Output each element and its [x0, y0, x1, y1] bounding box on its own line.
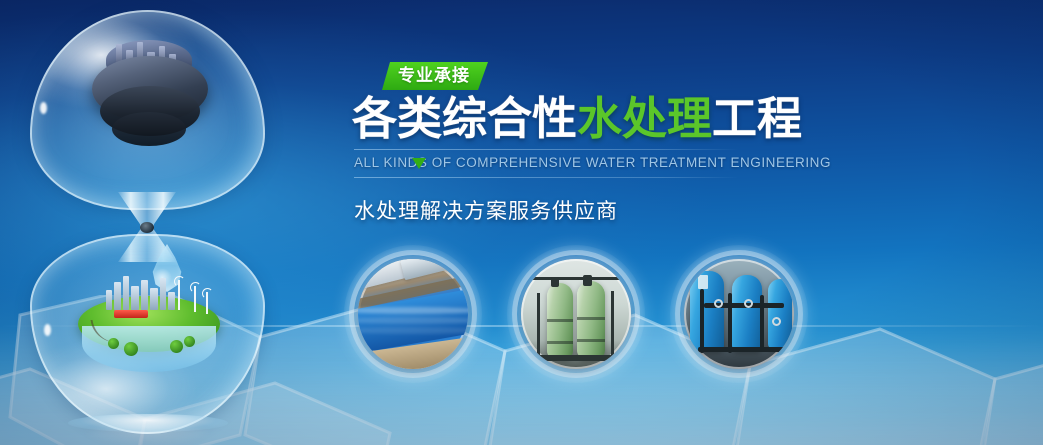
tree-icon	[184, 336, 195, 347]
tree-icon	[108, 338, 119, 349]
badge-pointer	[412, 158, 426, 169]
city-platform-lower	[112, 112, 186, 146]
industrial-city-graphic	[84, 34, 214, 164]
island-skyline	[104, 274, 176, 308]
headline-part-3: 工程	[712, 92, 802, 145]
wind-turbine-icon	[194, 286, 196, 312]
photo-blue-industrial-filters	[684, 259, 794, 369]
wind-turbine-icon	[206, 292, 208, 314]
divider-bottom	[354, 177, 739, 178]
feature-photo-circles	[344, 245, 814, 385]
hourglass-neck-joint	[140, 222, 154, 233]
tree-icon	[170, 340, 183, 353]
tree-icon	[124, 342, 138, 356]
hero-text-block: 专业承接 各类综合性水处理工程 ALL KINDS OF COMPREHENSI…	[352, 62, 772, 225]
page-title: 各类综合性水处理工程	[352, 96, 772, 142]
headline-part-2: 水处理	[577, 92, 712, 145]
red-train-icon	[114, 310, 148, 318]
hourglass-reflection	[80, 424, 216, 445]
headline-part-1: 各类综合性	[352, 92, 577, 145]
photo-circle-water-treatment-pool[interactable]	[344, 245, 482, 383]
badge-professional-undertaking: 专业承接	[382, 62, 488, 90]
photo-circle-blue-filters[interactable]	[670, 245, 808, 383]
photo-circle-filtration-tanks[interactable]	[507, 245, 645, 383]
photo-green-filtration-tanks	[521, 259, 631, 369]
wind-turbine-icon	[178, 280, 180, 310]
divider-top	[354, 149, 739, 150]
eco-island-graphic	[78, 264, 220, 374]
water-treatment-hero-banner: 专业承接 各类综合性水处理工程 ALL KINDS OF COMPREHENSI…	[0, 0, 1043, 445]
photo-water-treatment-pool	[358, 259, 468, 369]
hourglass-illustration	[22, 6, 272, 438]
subtitle: 水处理解决方案服务供应商	[354, 195, 772, 225]
